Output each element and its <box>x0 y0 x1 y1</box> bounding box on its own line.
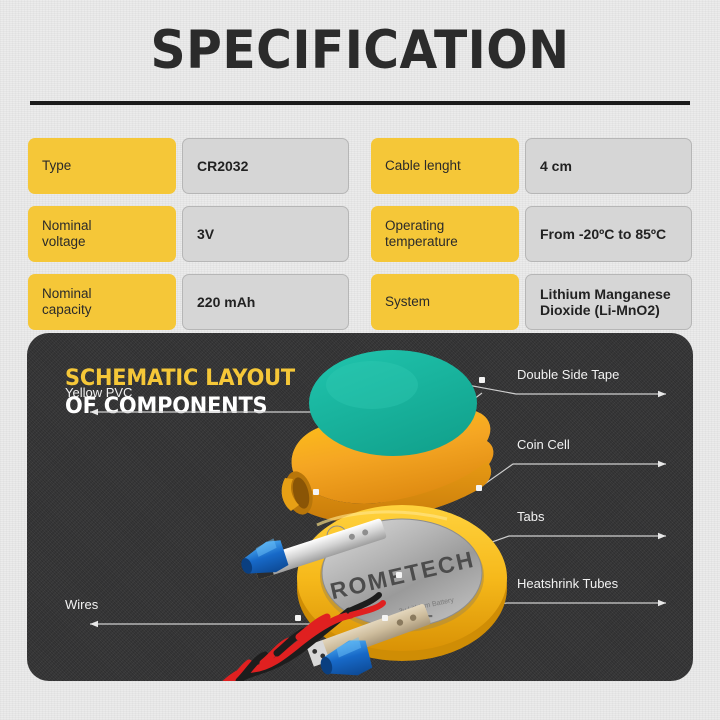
schematic-panel: SCHEMATIC LAYOUT OF COMPONENTS <box>27 333 693 681</box>
callout-label-tabs: Tabs <box>517 509 544 524</box>
spec-label-system: System <box>371 274 519 330</box>
spec-label-type: Type <box>28 138 176 194</box>
coin-cell: ROMETECH + 3v Lithium Battery R <box>297 505 507 661</box>
callout-label-double-side-tape: Double Side Tape <box>517 367 619 382</box>
leader-arrow-left <box>90 409 98 681</box>
spec-value-operating-temperature: From -20ºC to 85ºC <box>525 206 692 262</box>
table-row: Operatingtemperature From -20ºC to 85ºC <box>371 206 692 262</box>
title-divider <box>30 101 690 105</box>
double-side-tape <box>309 350 477 456</box>
spec-label-nominal-voltage: Nominalvoltage <box>28 206 176 262</box>
spec-label-operating-temperature: Operatingtemperature <box>371 206 519 262</box>
table-row: Cable lenght 4 cm <box>371 138 692 194</box>
callout-label-yellow-pvc: Yellow PVC <box>65 385 132 400</box>
specification-page: SPECIFICATION Type CR2032 Cable lenght 4… <box>0 0 720 720</box>
spec-label-nominal-capacity: Nominalcapacity <box>28 274 176 330</box>
callout-label-wires: Wires <box>65 597 98 612</box>
spec-value-nominal-voltage: 3V <box>182 206 349 262</box>
specification-table: Type CR2032 Cable lenght 4 cm Nominalvol… <box>28 138 692 330</box>
spec-value-type: CR2032 <box>182 138 349 194</box>
spec-value-nominal-capacity: 220 mAh <box>182 274 349 330</box>
spec-label-cable-length: Cable lenght <box>371 138 519 194</box>
table-row: Type CR2032 <box>28 138 349 194</box>
spec-value-system: Lithium ManganeseDioxide (Li-MnO2) <box>525 274 692 330</box>
callout-label-heatshrink-tubes: Heatshrink Tubes <box>517 576 618 591</box>
spec-value-cable-length: 4 cm <box>525 138 692 194</box>
table-row: Nominalcapacity 220 mAh <box>28 274 349 330</box>
callout-label-coin-cell: Coin Cell <box>517 437 570 452</box>
table-row: System Lithium ManganeseDioxide (Li-MnO2… <box>371 274 692 330</box>
table-row: Nominalvoltage 3V <box>28 206 349 262</box>
page-title: SPECIFICATION <box>29 22 691 80</box>
leader-arrow-right <box>658 391 666 606</box>
